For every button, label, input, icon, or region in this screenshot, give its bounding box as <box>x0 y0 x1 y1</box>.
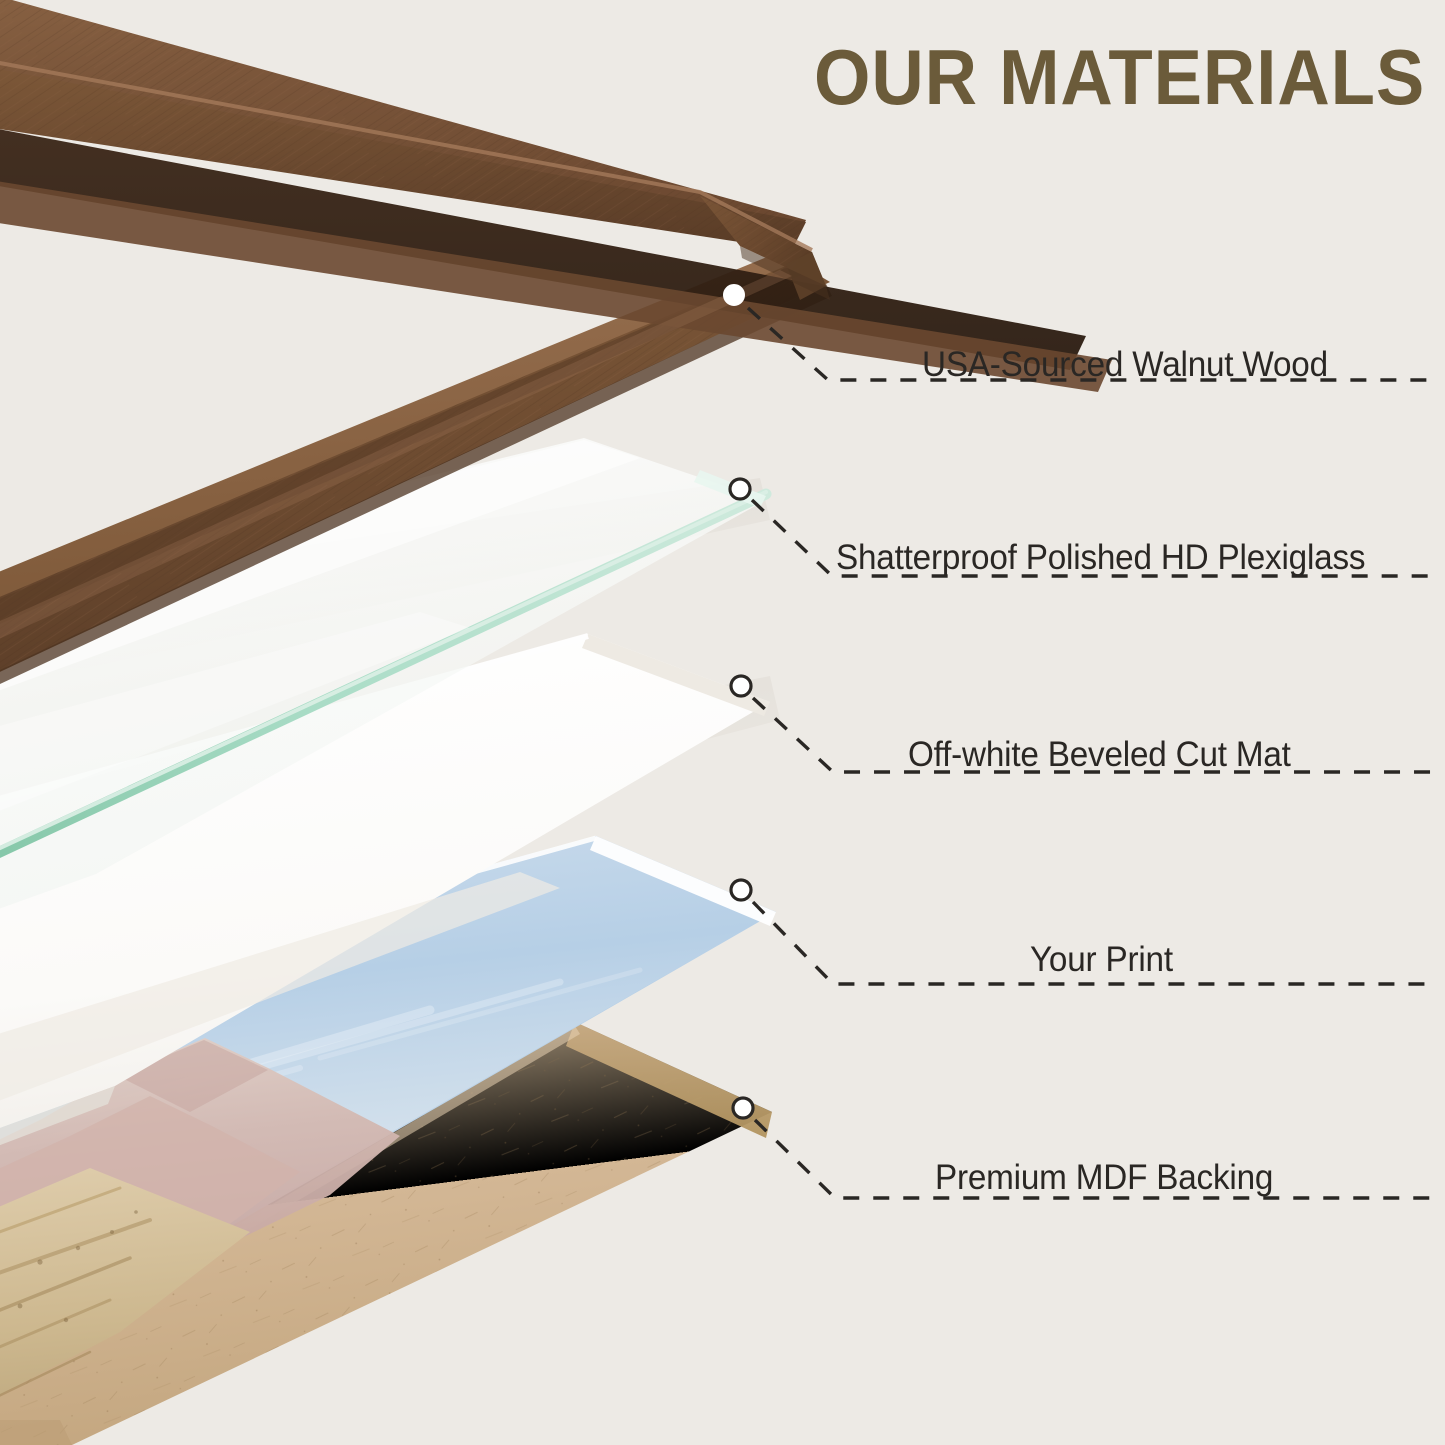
callout-marker-walnut-wood <box>724 285 744 305</box>
callout-marker-print <box>731 880 751 900</box>
callout-label-mat: Off-white Beveled Cut Mat <box>908 735 1291 775</box>
page-title: OUR MATERIALS <box>814 38 1425 116</box>
callout-label-walnut-wood: USA-Sourced Walnut Wood <box>922 345 1328 385</box>
callout-label-plexiglass: Shatterproof Polished HD Plexiglass <box>836 538 1365 578</box>
callout-marker-mat <box>731 676 751 696</box>
callout-markers <box>724 285 753 1118</box>
callout-marker-mdf <box>733 1098 753 1118</box>
callout-label-print: Your Print <box>1030 940 1173 980</box>
infographic-canvas: OUR MATERIALS USA-Sourced Walnut Wood Sh… <box>0 0 1445 1445</box>
callout-layer <box>0 0 1445 1445</box>
callout-label-mdf: Premium MDF Backing <box>935 1158 1273 1198</box>
callout-marker-plexiglass <box>730 479 750 499</box>
